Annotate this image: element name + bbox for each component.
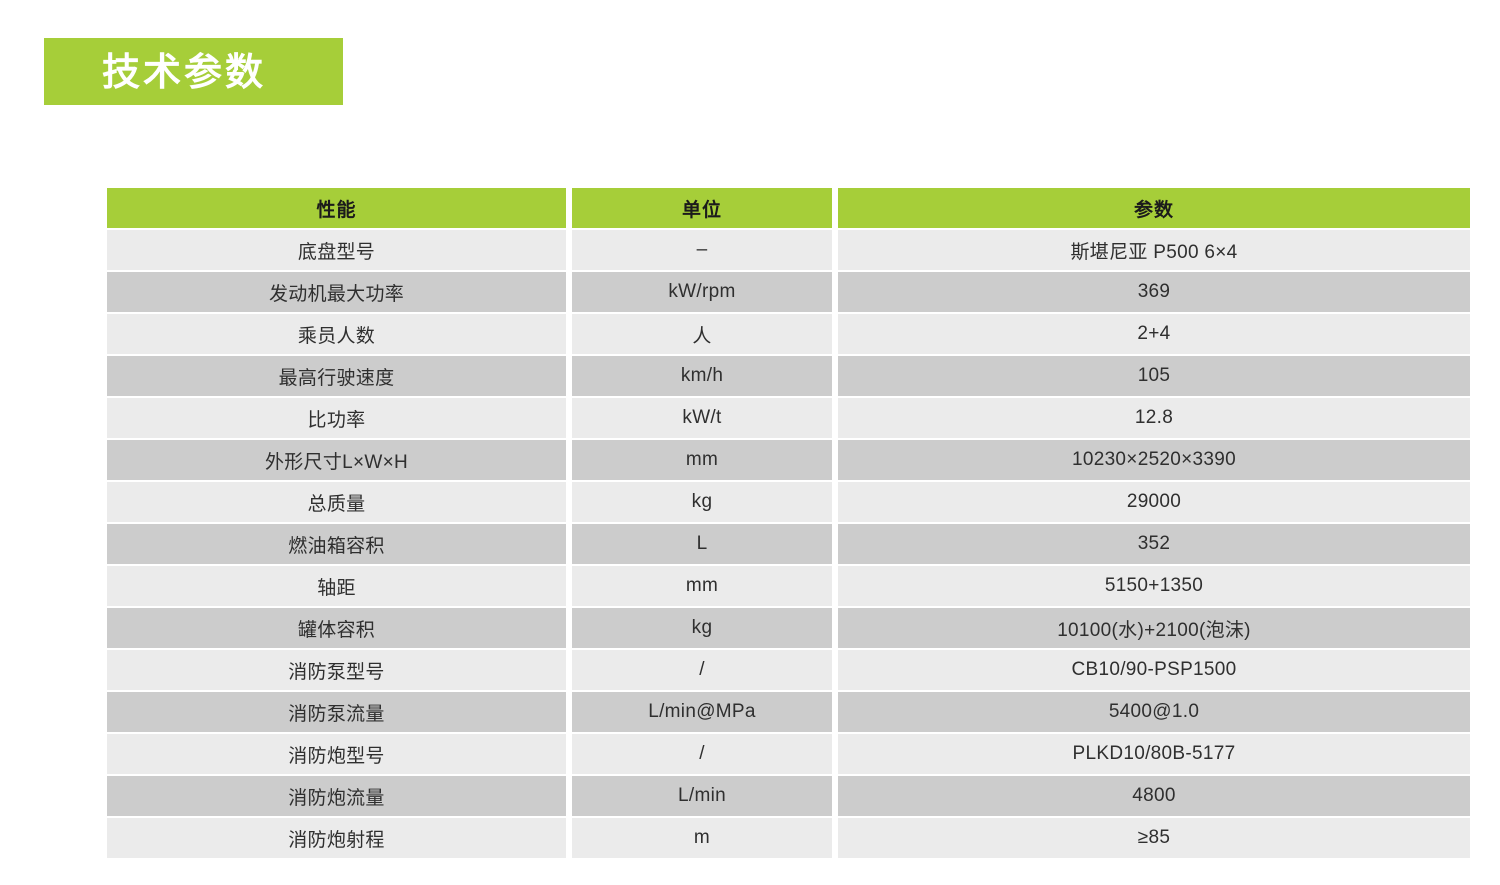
- cell-parameter: 29000: [838, 482, 1470, 522]
- cell-performance: 燃油箱容积: [107, 524, 566, 564]
- cell-unit: L/min@MPa: [572, 692, 832, 732]
- cell-performance: 总质量: [107, 482, 566, 522]
- table-row: 消防泵型号/CB10/90-PSP1500: [107, 650, 1470, 690]
- page-title-banner: 技术参数: [44, 38, 343, 105]
- table-row: 最高行驶速度km/h105: [107, 356, 1470, 396]
- cell-performance: 最高行驶速度: [107, 356, 566, 396]
- cell-performance: 底盘型号: [107, 230, 566, 270]
- cell-unit: mm: [572, 566, 832, 606]
- cell-performance: 消防炮射程: [107, 818, 566, 858]
- table-row: 外形尺寸L×W×Hmm10230×2520×3390: [107, 440, 1470, 480]
- column-header-performance: 性能: [107, 188, 566, 228]
- table-header: 性能 单位 参数: [107, 188, 1470, 228]
- cell-parameter: 10230×2520×3390: [838, 440, 1470, 480]
- table-row: 轴距mm5150+1350: [107, 566, 1470, 606]
- cell-performance: 消防炮流量: [107, 776, 566, 816]
- cell-parameter: CB10/90-PSP1500: [838, 650, 1470, 690]
- table-row: 罐体容积kg10100(水)+2100(泡沫): [107, 608, 1470, 648]
- cell-performance: 罐体容积: [107, 608, 566, 648]
- spec-table-container: 性能 单位 参数 底盘型号–斯堪尼亚 P500 6×4发动机最大功率kW/rpm…: [107, 188, 1458, 858]
- cell-unit: kg: [572, 608, 832, 648]
- cell-unit: L: [572, 524, 832, 564]
- cell-parameter: ≥85: [838, 818, 1470, 858]
- column-header-parameter: 参数: [838, 188, 1470, 228]
- cell-parameter: 5150+1350: [838, 566, 1470, 606]
- technical-specifications-table: 性能 单位 参数 底盘型号–斯堪尼亚 P500 6×4发动机最大功率kW/rpm…: [101, 186, 1476, 860]
- cell-parameter: 105: [838, 356, 1470, 396]
- cell-unit: kW/t: [572, 398, 832, 438]
- cell-performance: 消防炮型号: [107, 734, 566, 774]
- cell-unit: /: [572, 650, 832, 690]
- cell-unit: 人: [572, 314, 832, 354]
- cell-parameter: 12.8: [838, 398, 1470, 438]
- cell-unit: L/min: [572, 776, 832, 816]
- cell-performance: 消防泵流量: [107, 692, 566, 732]
- page-title: 技术参数: [102, 53, 266, 91]
- cell-parameter: PLKD10/80B-5177: [838, 734, 1470, 774]
- cell-performance: 轴距: [107, 566, 566, 606]
- cell-performance: 比功率: [107, 398, 566, 438]
- cell-parameter: 4800: [838, 776, 1470, 816]
- cell-parameter: 2+4: [838, 314, 1470, 354]
- cell-unit: –: [572, 230, 832, 270]
- table-row: 总质量kg29000: [107, 482, 1470, 522]
- table-row: 消防炮型号/PLKD10/80B-5177: [107, 734, 1470, 774]
- cell-unit: km/h: [572, 356, 832, 396]
- cell-performance: 乘员人数: [107, 314, 566, 354]
- cell-parameter: 352: [838, 524, 1470, 564]
- cell-performance: 发动机最大功率: [107, 272, 566, 312]
- table-row: 消防泵流量L/min@MPa5400@1.0: [107, 692, 1470, 732]
- cell-unit: m: [572, 818, 832, 858]
- table-body: 底盘型号–斯堪尼亚 P500 6×4发动机最大功率kW/rpm369乘员人数人2…: [107, 230, 1470, 858]
- cell-unit: kW/rpm: [572, 272, 832, 312]
- cell-unit: kg: [572, 482, 832, 522]
- table-row: 发动机最大功率kW/rpm369: [107, 272, 1470, 312]
- table-row: 比功率kW/t12.8: [107, 398, 1470, 438]
- cell-unit: /: [572, 734, 832, 774]
- cell-performance: 消防泵型号: [107, 650, 566, 690]
- table-header-row: 性能 单位 参数: [107, 188, 1470, 228]
- cell-parameter: 斯堪尼亚 P500 6×4: [838, 230, 1470, 270]
- cell-performance: 外形尺寸L×W×H: [107, 440, 566, 480]
- table-row: 消防炮射程m≥85: [107, 818, 1470, 858]
- cell-parameter: 5400@1.0: [838, 692, 1470, 732]
- table-row: 燃油箱容积L352: [107, 524, 1470, 564]
- table-row: 乘员人数人2+4: [107, 314, 1470, 354]
- table-row: 消防炮流量L/min4800: [107, 776, 1470, 816]
- cell-parameter: 369: [838, 272, 1470, 312]
- table-row: 底盘型号–斯堪尼亚 P500 6×4: [107, 230, 1470, 270]
- cell-parameter: 10100(水)+2100(泡沫): [838, 608, 1470, 648]
- column-header-unit: 单位: [572, 188, 832, 228]
- cell-unit: mm: [572, 440, 832, 480]
